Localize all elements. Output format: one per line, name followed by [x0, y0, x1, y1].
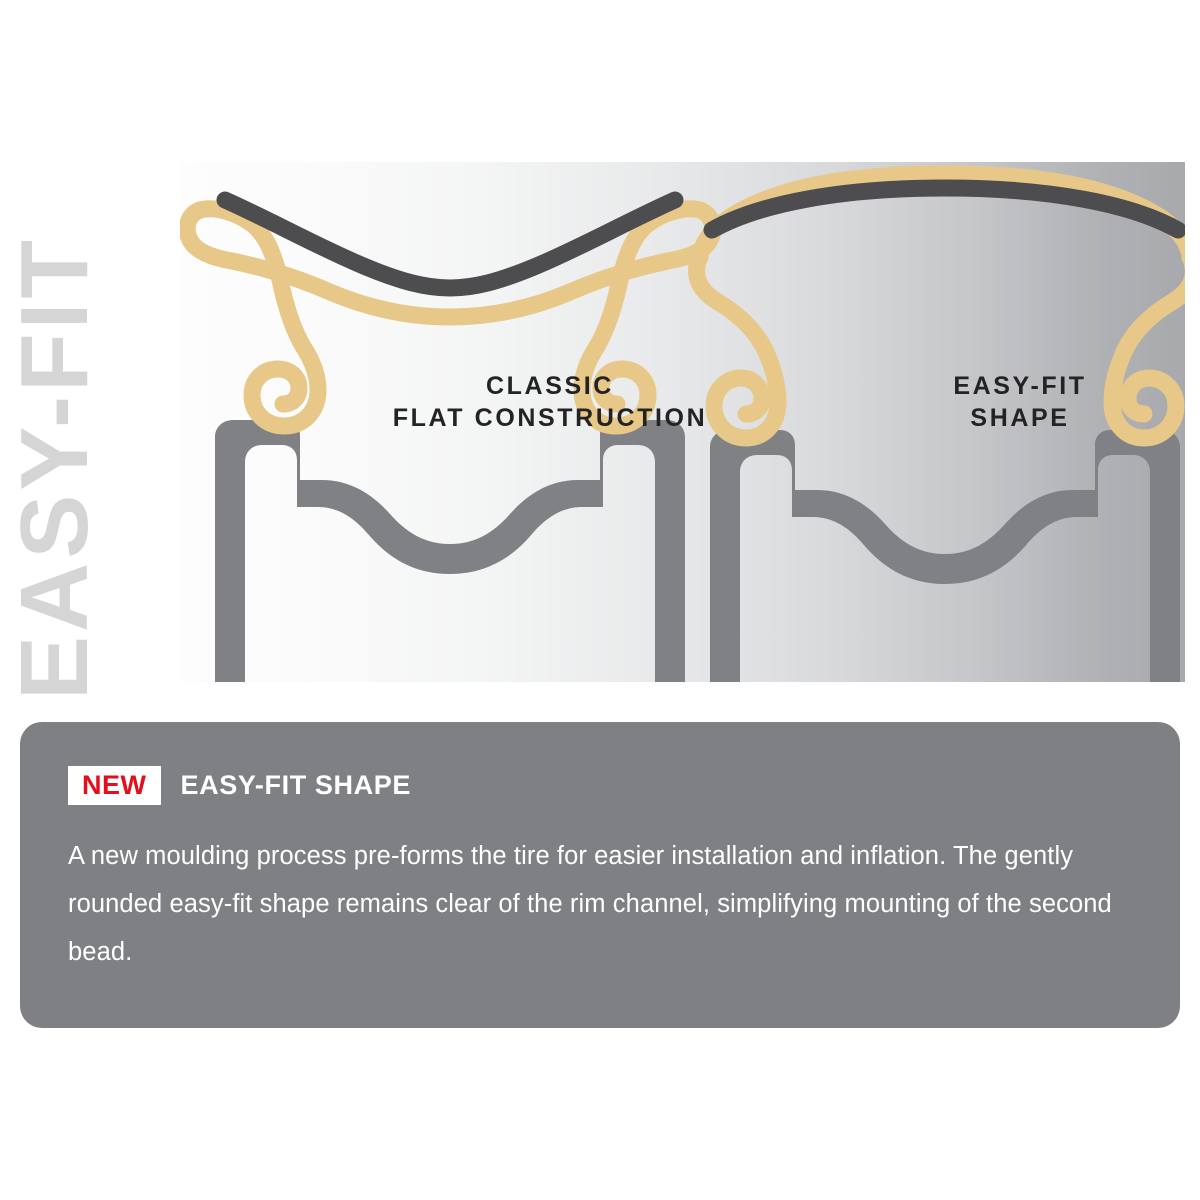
- info-panel: NEW EASY-FIT SHAPE A new moulding proces…: [20, 722, 1180, 1028]
- info-header: NEW EASY-FIT SHAPE: [68, 768, 1132, 802]
- rim-profile-left: [215, 420, 685, 682]
- new-badge: NEW: [68, 766, 161, 805]
- caption-classic-flat-construction: CLASSIC FLAT CONSTRUCTION: [300, 370, 800, 434]
- rim-profile-right: [710, 430, 1180, 682]
- info-title: EASY-FIT SHAPE: [181, 768, 411, 802]
- easy-fit-watermark: EASY-FIT: [0, 160, 110, 700]
- easy-fit-infographic: EASY-FIT: [0, 0, 1200, 1200]
- caption-easy-fit-shape: EASY-FIT SHAPE: [820, 370, 1185, 434]
- info-description: A new moulding process pre-forms the tir…: [68, 832, 1128, 976]
- illustration-panel: CLASSIC FLAT CONSTRUCTION EASY-FIT SHAPE: [180, 162, 1185, 682]
